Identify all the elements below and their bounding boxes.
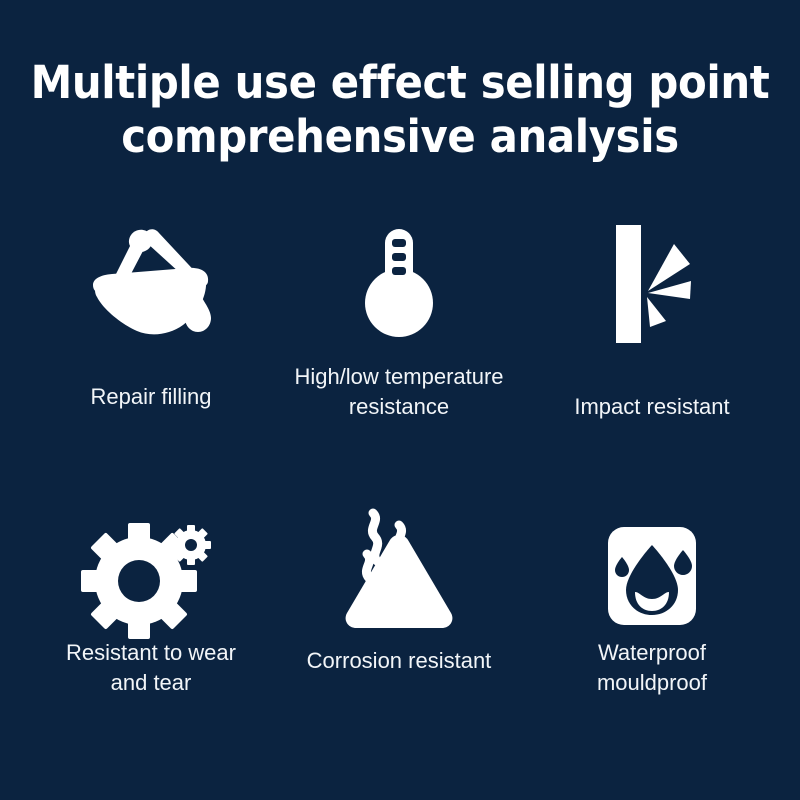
title-line-2: comprehensive analysis bbox=[28, 110, 772, 164]
feature-label: Resistant to wear and tear bbox=[26, 638, 276, 698]
feature-item-impact-resistant: Impact resistant bbox=[527, 196, 777, 476]
thermometer-icon bbox=[274, 200, 524, 370]
title-line-1: Multiple use effect selling point bbox=[28, 56, 772, 110]
feature-row-bottom: Resistant to wear and tear bbox=[0, 478, 800, 758]
feature-grid: Repair filling bbox=[0, 196, 800, 756]
feature-label: High/low temperature resistance bbox=[274, 362, 524, 422]
impact-burst-icon bbox=[527, 196, 777, 366]
feature-item-repair-filling: Repair filling bbox=[26, 196, 276, 476]
waterdrop-badge-icon bbox=[527, 492, 777, 662]
feature-infographic-poster: Multiple use effect selling point compre… bbox=[0, 0, 800, 800]
feature-label: Impact resistant bbox=[527, 392, 777, 422]
feature-item-corrosion-resistant: Corrosion resistant bbox=[274, 478, 524, 758]
gears-icon bbox=[26, 488, 276, 658]
feature-label: Corrosion resistant bbox=[274, 646, 524, 676]
poster-title: Multiple use effect selling point compre… bbox=[0, 56, 800, 164]
fuming-mound-icon bbox=[274, 486, 524, 656]
feature-row-top: Repair filling bbox=[0, 196, 800, 476]
feature-label: Waterproof mouldproof bbox=[527, 638, 777, 698]
pouring-bucket-icon bbox=[26, 202, 276, 372]
feature-item-waterproof-mouldproof: Waterproof mouldproof bbox=[527, 478, 777, 758]
feature-item-wear-resistant: Resistant to wear and tear bbox=[26, 478, 276, 758]
feature-item-temperature-resistance: High/low temperature resistance bbox=[274, 196, 524, 476]
feature-label: Repair filling bbox=[26, 382, 276, 412]
